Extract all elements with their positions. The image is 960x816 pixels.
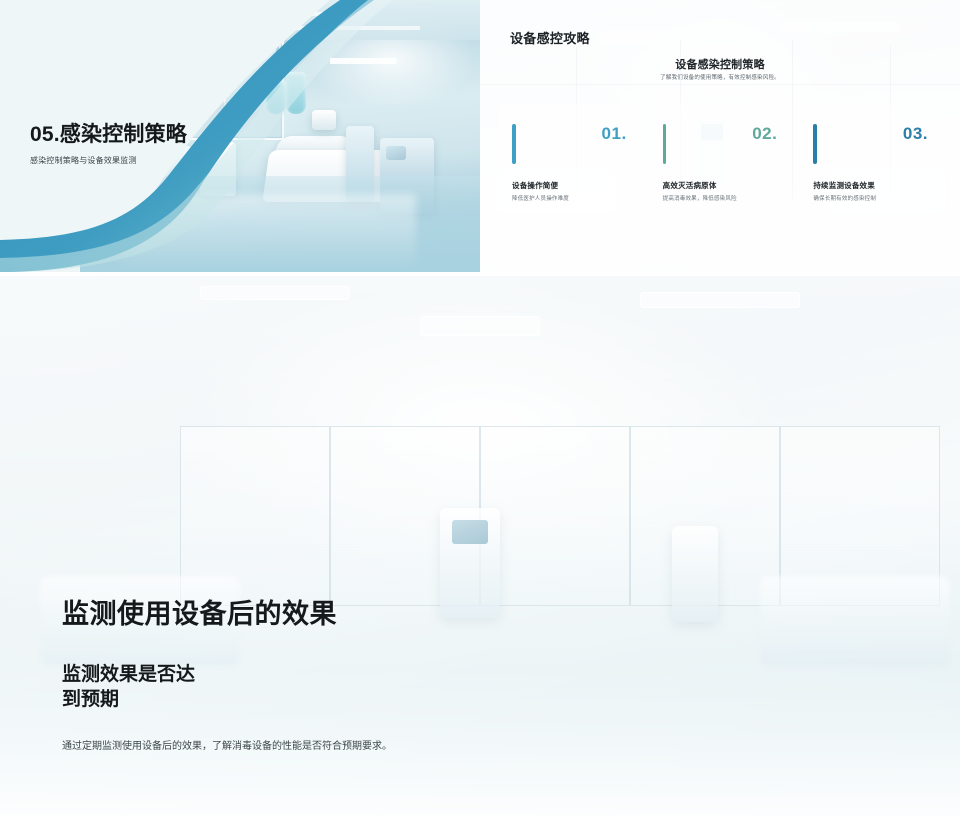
slide-section-title: 05.感染控制策略 感染控制策略与设备效果监测: [0, 0, 480, 272]
device-screen: [452, 520, 488, 544]
column-desc: 提高消毒效果，降低感染风险: [663, 194, 737, 202]
slide-strategy: 设备感控攻略 设备感染控制策略 了解我们设备的使用策略，有效控制感染风险。 01…: [480, 0, 960, 272]
column-number: 01.: [602, 124, 627, 144]
section-title-block: 05.感染控制策略 感染控制策略与设备效果监测: [30, 118, 187, 166]
strategy-column[interactable]: 02. 高效灭活病原体 提高消毒效果，降低感染风险: [649, 104, 792, 234]
column-desc: 确保长期有效的感染控制: [813, 194, 876, 202]
ceiling-panel: [200, 286, 350, 300]
column-title: 持续监测设备效果: [813, 180, 875, 191]
slide-deck: 05.感染控制策略 感染控制策略与设备效果监测 设备感控攻略 设备感染控制策略 …: [0, 0, 960, 816]
column-title: 高效灭活病原体: [663, 180, 717, 191]
column-title: 设备操作简便: [512, 180, 558, 191]
column-number: 03.: [903, 124, 928, 144]
medical-device: [672, 526, 718, 622]
bed-blur: [760, 576, 950, 666]
accent-bar: [512, 124, 516, 164]
strategy-column[interactable]: 03. 持续监测设备效果 确保长期有效的感染控制: [799, 104, 942, 234]
page-subtitle: 监测效果是否达 到预期: [62, 662, 195, 712]
column-number: 02.: [752, 124, 777, 144]
column-desc: 降低医护人员操作难度: [512, 194, 569, 202]
panel-header: 设备感控攻略: [510, 28, 590, 47]
panel-center-title: 设备感染控制策略: [480, 56, 960, 72]
page-body-text: 通过定期监测使用设备后的效果，了解消毒设备的性能是否符合预期要求。: [62, 738, 442, 755]
section-subtitle: 感染控制策略与设备效果监测: [30, 155, 187, 166]
strategy-column[interactable]: 01. 设备操作简便 降低医护人员操作难度: [498, 104, 641, 234]
ward-background-photo-large: [0, 276, 960, 816]
ceiling-panel: [420, 316, 540, 336]
accent-bar: [663, 124, 667, 164]
window-pane: [480, 426, 630, 606]
accent-bar: [813, 124, 817, 164]
ceiling-panel: [640, 292, 800, 308]
section-title: 05.感染控制策略: [30, 118, 187, 148]
panel-center-subtitle: 了解我们设备的使用策略，有效控制感染风险。: [480, 73, 960, 81]
page-title: 监测使用设备后的效果: [62, 592, 337, 631]
slide-monitoring: 监测使用设备后的效果 监测效果是否达 到预期 通过定期监测使用设备后的效果，了解…: [0, 276, 960, 816]
strategy-columns: 01. 设备操作简便 降低医护人员操作难度 02. 高效灭活病原体 提高消毒效果…: [498, 104, 942, 234]
